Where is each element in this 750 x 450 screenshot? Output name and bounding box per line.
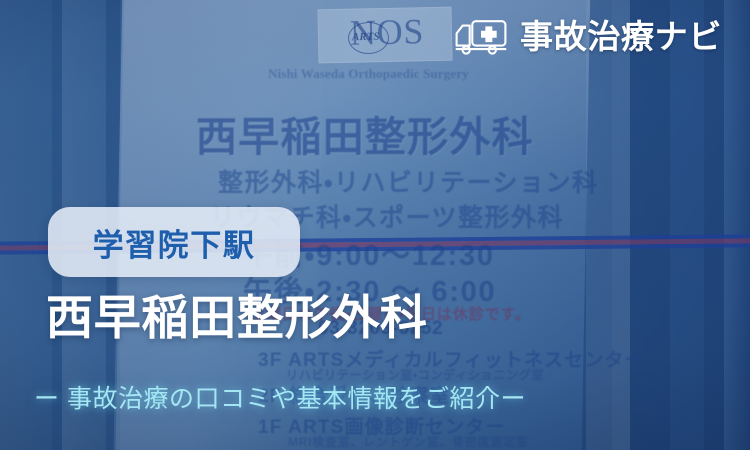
ambulance-icon [454, 16, 508, 56]
station-badge[interactable]: 学習院下駅 [48, 207, 300, 277]
site-logo[interactable]: 事故治療ナビ [454, 16, 722, 56]
page-title: 西早稲田整形外科 [46, 293, 428, 342]
station-badge-label: 学習院下駅 [93, 220, 256, 265]
site-logo-text: 事故治療ナビ [520, 20, 722, 53]
page-subtitle: ー 事故治療の口コミや基本情報をご紹介ー [34, 379, 526, 415]
hero-banner: NOS ARTS Nishi Waseda Orthopaedic Surger… [0, 0, 750, 450]
hero-overlay: 事故治療ナビ 学習院下駅 西早稲田整形外科 ー 事故治療の口コミや基本情報をご紹… [0, 0, 750, 450]
